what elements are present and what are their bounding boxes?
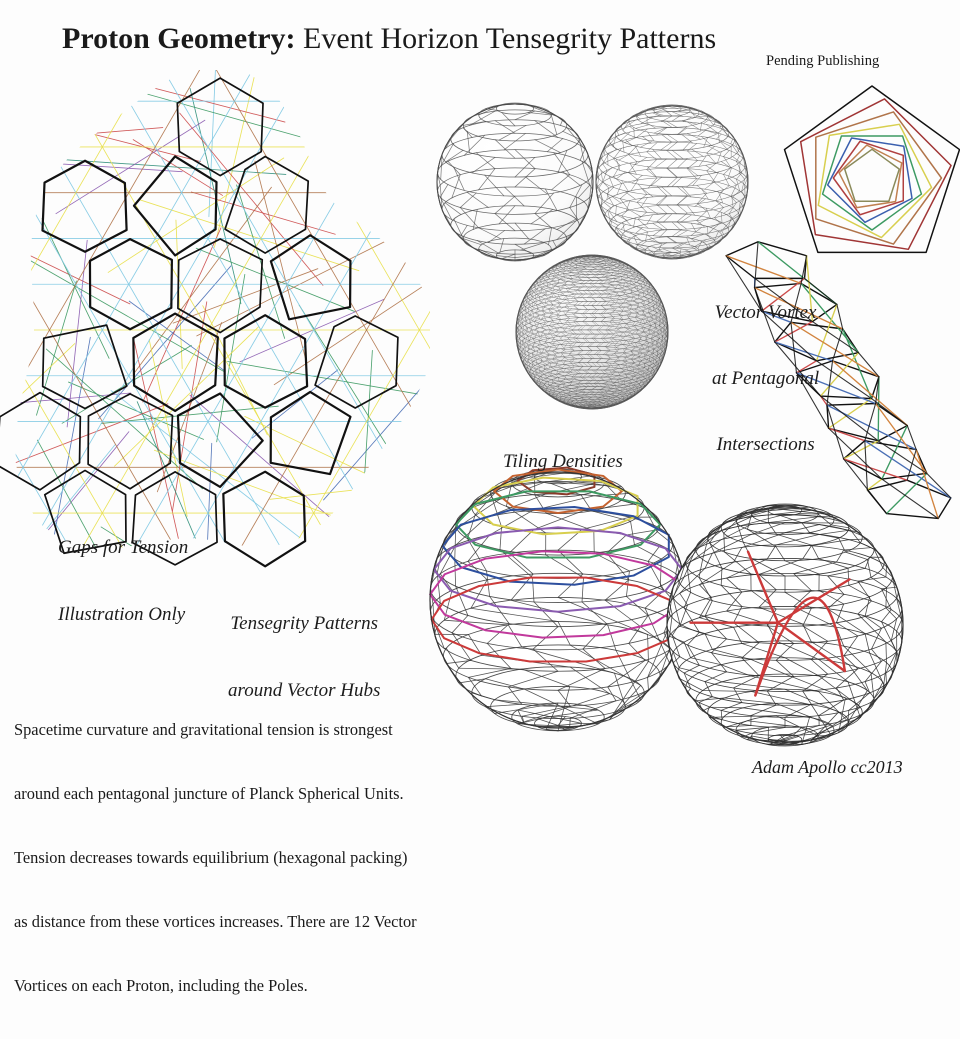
caption-vector-vortex: Vector Vortex at Pentagonal Intersection…	[712, 258, 819, 500]
page-title: Proton Geometry: Event Horizon Tensegrit…	[62, 22, 716, 56]
body-line: around each pentagonal juncture of Planc…	[14, 783, 417, 804]
body-line: Vortices on each Proton, including the P…	[14, 975, 417, 996]
body-line: Tension decreases towards equilibrium (h…	[14, 847, 417, 868]
caption-line: Illustration Only	[58, 604, 188, 626]
geodesic-sphere-medium	[596, 105, 748, 259]
credit-line: Adam Apollo cc2013	[752, 757, 903, 778]
poster-canvas: Proton Geometry: Event Horizon Tensegrit…	[0, 0, 960, 800]
geodesic-sphere-coarse	[437, 103, 593, 261]
caption-gaps-for-tension: Gaps for Tension Illustration Only	[58, 492, 188, 671]
body-paragraph: Spacetime curvature and gravitational te…	[14, 676, 417, 1039]
title-bold-part: Proton Geometry:	[62, 22, 296, 55]
caption-line: Intersections	[712, 434, 819, 456]
body-line: as distance from these vortices increase…	[14, 911, 417, 932]
subtitle-pending-publishing: Pending Publishing	[766, 53, 879, 70]
caption-line: at Pentagonal	[712, 368, 819, 390]
sphere-with-red-vector-star	[667, 504, 903, 746]
geodesic-sphere-dense	[516, 255, 668, 409]
caption-line: Tensegrity Patterns	[228, 613, 380, 635]
body-line: Spacetime curvature and gravitational te…	[14, 719, 417, 740]
nested-pentagon-vortex	[785, 86, 960, 252]
caption-line: Vector Vortex	[712, 302, 819, 324]
title-regular-part: Event Horizon Tensegrity Patterns	[296, 22, 717, 55]
caption-tiling-densities: Tiling Densities	[503, 406, 623, 518]
caption-line: Tiling Densities	[503, 451, 623, 473]
caption-line: Gaps for Tension	[58, 537, 188, 559]
